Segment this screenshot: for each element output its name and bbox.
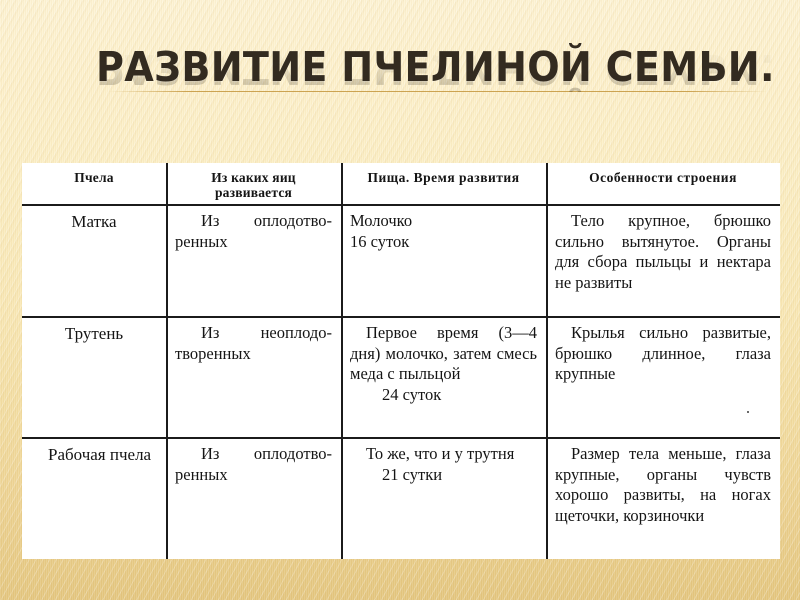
table-row-divider-1 bbox=[22, 316, 780, 318]
cell-bee-name: Рабочая пчела bbox=[22, 437, 166, 559]
slide-title-block: РАЗВИТИЕ ПЧЕЛИНОЙ СЕМЬИ. РАЗВИТИЕ ПЧЕЛИН… bbox=[0, 44, 800, 144]
table-row: Трутень Из неоплодо-творенных Первое вре… bbox=[22, 316, 780, 437]
cell-food-time: 21 сутки bbox=[350, 465, 537, 486]
cell-bee-name: Трутень bbox=[22, 316, 166, 437]
cell-food-main: Молочко bbox=[350, 211, 412, 230]
table-column-divider-1 bbox=[166, 163, 168, 559]
cell-food: Первое время (3—4 дня) молочко, затем см… bbox=[341, 316, 546, 437]
table: Пчела Из каких яиц развивается Пища. Вре… bbox=[22, 163, 780, 559]
column-header-eggs: Из каких яиц развивается bbox=[166, 163, 341, 204]
cell-features: Тело крупное, брюшко сильно вытянутое. О… bbox=[546, 204, 780, 316]
cell-bee-name: Матка bbox=[22, 204, 166, 316]
cell-food-main: То же, что и у трутня bbox=[366, 444, 514, 463]
cell-features: Крылья сильно развитые, брюшко длинное, … bbox=[546, 316, 780, 437]
title-underline-rule bbox=[108, 91, 768, 92]
column-header-food-time: Пища. Время развития bbox=[341, 163, 546, 204]
table-column-divider-3 bbox=[546, 163, 548, 559]
cell-food-main: Первое время (3—4 дня) молочко, затем см… bbox=[350, 323, 537, 383]
cell-food: Молочко 16 суток bbox=[341, 204, 546, 316]
table-row-divider-2 bbox=[22, 437, 780, 439]
cell-egg-origin: Из оплодотво-ренных bbox=[166, 437, 341, 559]
column-header-features: Особенности строения bbox=[546, 163, 780, 204]
table-row: Матка Из оплодотво-ренных Молочко 16 сут… bbox=[22, 204, 780, 316]
column-header-bee: Пчела bbox=[22, 163, 166, 204]
scan-artifact-dot bbox=[747, 411, 749, 413]
cell-food-time: 24 суток bbox=[350, 385, 537, 406]
table-header-row: Пчела Из каких яиц развивается Пища. Вре… bbox=[22, 163, 780, 204]
cell-food: То же, что и у трутня 21 сутки bbox=[341, 437, 546, 559]
page-title: РАЗВИТИЕ ПЧЕЛИНОЙ СЕМЬИ. bbox=[96, 44, 775, 90]
cell-food-time: 16 суток bbox=[350, 232, 409, 251]
table-header-divider bbox=[22, 204, 780, 206]
bee-development-table: Пчела Из каких яиц развивается Пища. Вре… bbox=[22, 163, 780, 559]
presentation-slide: РАЗВИТИЕ ПЧЕЛИНОЙ СЕМЬИ. РАЗВИТИЕ ПЧЕЛИН… bbox=[0, 0, 800, 600]
cell-egg-origin: Из неоплодо-творенных bbox=[166, 316, 341, 437]
table-column-divider-2 bbox=[341, 163, 343, 559]
cell-egg-origin: Из оплодотво-ренных bbox=[166, 204, 341, 316]
cell-features: Размер тела меньше, глаза крупные, орган… bbox=[546, 437, 780, 559]
table-row: Рабочая пчела Из оплодотво-ренных То же,… bbox=[22, 437, 780, 559]
